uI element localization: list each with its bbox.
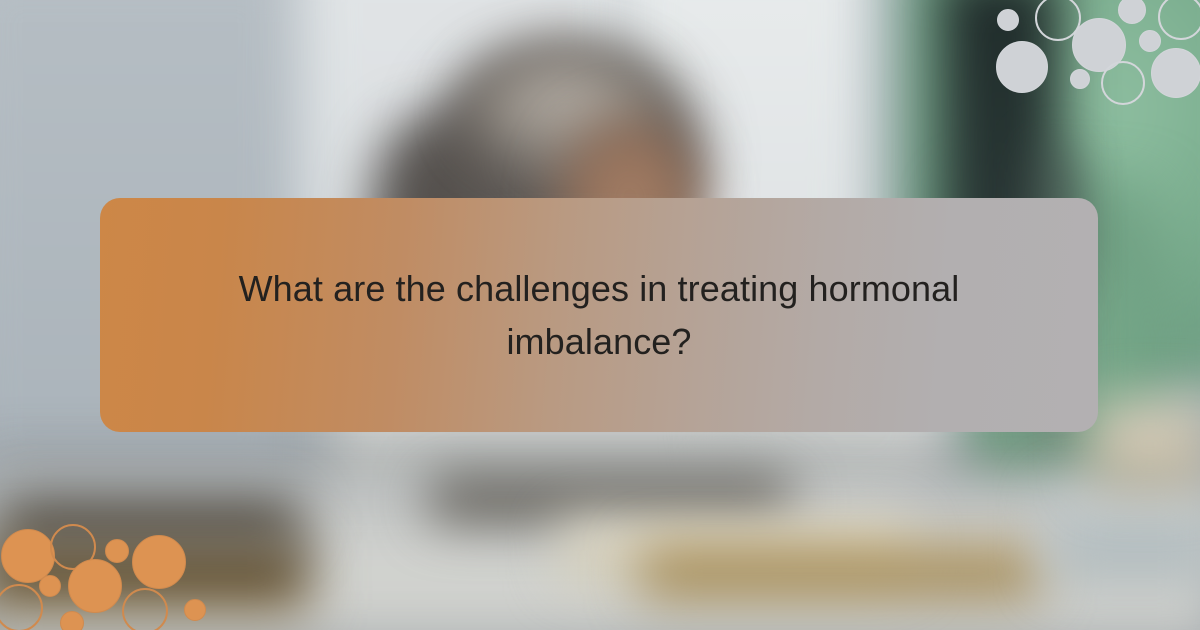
circle-cluster-bottom-left: [0, 510, 240, 630]
decorative-circle: [132, 535, 186, 589]
decorative-circle: [122, 588, 168, 630]
decorative-circle: [105, 539, 129, 563]
decorative-circle: [39, 575, 61, 597]
decorative-circle: [1101, 61, 1145, 105]
decorative-circle: [997, 9, 1019, 31]
decorative-circle: [60, 611, 84, 630]
decorative-circle: [1070, 69, 1090, 89]
decorative-circle: [0, 584, 43, 630]
background-desk-object-right: [1050, 490, 1200, 580]
decorative-circle: [996, 41, 1048, 93]
decorative-circle: [68, 559, 122, 613]
decorative-circle: [1139, 30, 1161, 52]
background-desk-object-right-2: [1090, 400, 1200, 490]
question-banner: What are the challenges in treating horm…: [100, 198, 1098, 432]
decorative-circle: [1151, 48, 1200, 98]
decorative-circle: [184, 599, 206, 621]
circle-cluster-top-right: [980, 0, 1200, 130]
background-keyboard: [430, 478, 790, 522]
background-book: [640, 548, 1040, 596]
decorative-circle: [1158, 0, 1200, 40]
decorative-circle: [1118, 0, 1146, 24]
question-text: What are the challenges in treating horm…: [194, 262, 1004, 369]
